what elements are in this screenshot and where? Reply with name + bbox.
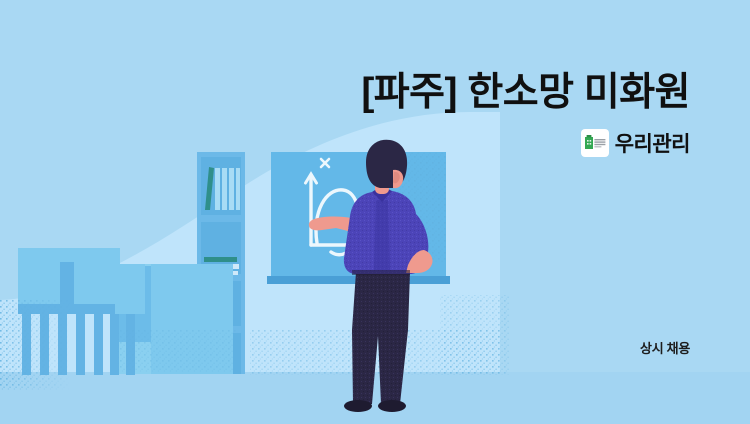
apartment-building-icon [581, 129, 609, 157]
status-badge: 상시 채용 [640, 338, 690, 357]
brand-row: 우리관리 [581, 128, 690, 158]
page-title: [파주] 한소망 미화원 [361, 73, 690, 114]
brand-name: 우리관리 [615, 128, 690, 158]
banner-text-layer: [파주] 한소망 미화원 우리관리 상시 채용 [0, 0, 750, 424]
job-posting-banner: [파주] 한소망 미화원 우리관리 상시 채용 [0, 0, 750, 424]
